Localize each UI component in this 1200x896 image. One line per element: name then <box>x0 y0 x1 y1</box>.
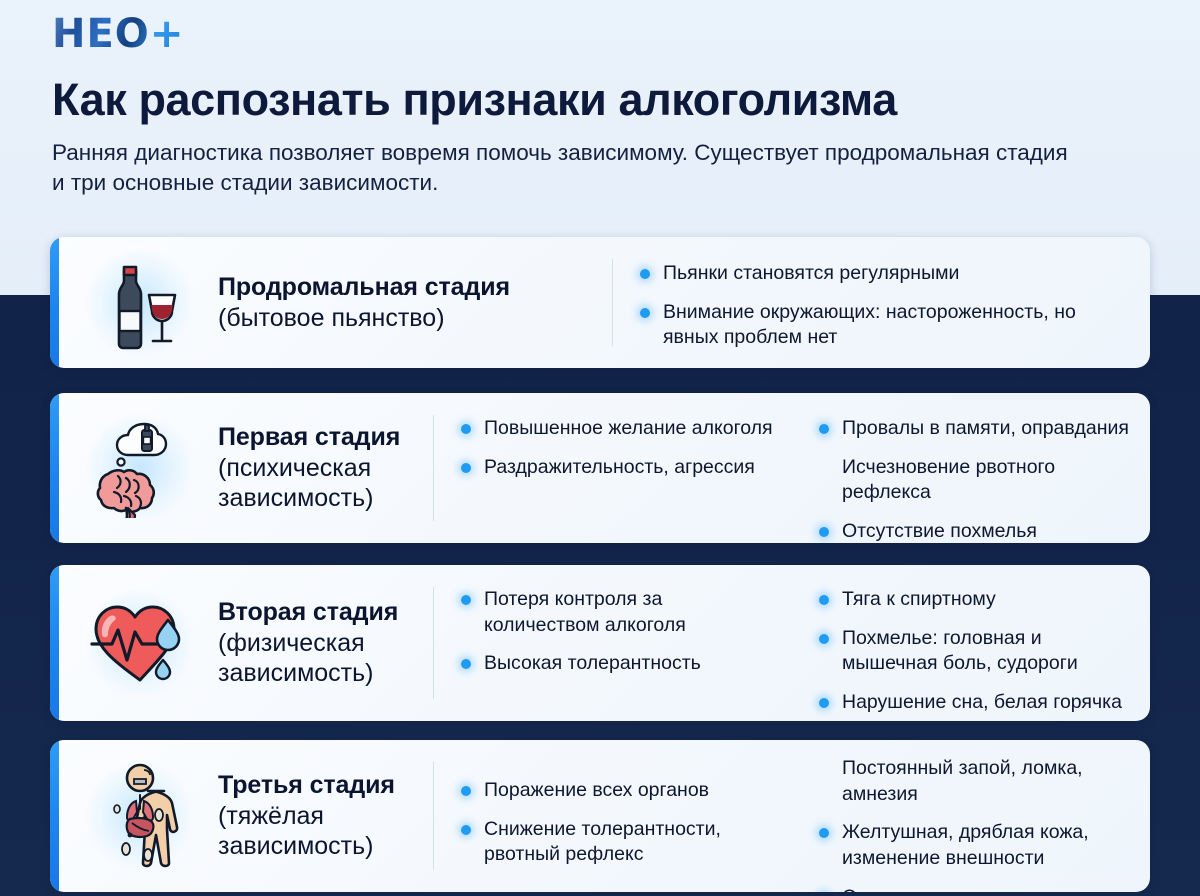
list-item: Раздражительность, агрессия <box>458 455 778 481</box>
brand-logo-name: HEO <box>52 11 150 57</box>
list-item: Повышенное желание алкоголя <box>458 416 778 442</box>
list-item: Снижение толерантности, рвотный рефлекс <box>458 817 778 868</box>
list-item: Отсутствие похмелья <box>816 519 1136 543</box>
stage-card-content: Пьянки становятся регулярными Внимание о… <box>613 237 1150 368</box>
brand-logo: HEO+ <box>52 14 184 54</box>
stage-card-second[interactable]: Вторая стадия (физическая зависимость) П… <box>50 565 1150 721</box>
stage-card-header: Продромальная стадия (бытовое пьянство) <box>50 237 612 368</box>
bullet-column: Поражение всех органов Снижение толерант… <box>434 756 792 868</box>
stage-card-header: Первая стадия (психическая зависимость) <box>50 393 433 543</box>
list-item: Желтушная, дряблая кожа, изменение внешн… <box>816 820 1136 871</box>
stage-title-main: Вторая стадия <box>218 597 433 628</box>
stage-card-content: Поражение всех органов Снижение толерант… <box>434 740 1150 892</box>
list-item: Социальная изоляция <box>816 885 1136 892</box>
list-item: Провалы в памяти, оправдания <box>816 416 1136 442</box>
bullet-column: Постоянный запой, ломка, амнезия Желтушн… <box>792 756 1150 892</box>
brain-with-thought-bubble-icon <box>84 412 196 524</box>
list-item: Пьянки становятся регулярными <box>637 261 1136 287</box>
stage-title-sub: (бытовое пьянство) <box>218 303 510 334</box>
infographic-page: HEO+ Как распознать признаки алкоголизма… <box>0 0 1200 896</box>
bullet-column: Повышенное желание алкоголя Раздражитель… <box>434 416 792 480</box>
stage-title: Третья стадия (тяжёлая зависимость) <box>218 770 433 862</box>
stage-card-third[interactable]: Третья стадия (тяжёлая зависимость) Пора… <box>50 740 1150 892</box>
heart-with-pulse-and-drops-icon <box>84 587 196 699</box>
stage-card-content: Потеря контроля за количеством алкоголя … <box>434 565 1150 721</box>
stage-card-content: Повышенное желание алкоголя Раздражитель… <box>434 393 1150 543</box>
stage-card-prodromal[interactable]: Продромальная стадия (бытовое пьянство) … <box>50 237 1150 368</box>
page-title: Как распознать признаки алкоголизма <box>52 76 1162 124</box>
bullet-list: Потеря контроля за количеством алкоголя … <box>458 587 778 677</box>
list-item: Внимание окружающих: настороженность, но… <box>637 300 1136 351</box>
human-body-organs-icon <box>84 760 196 872</box>
bullet-list: Постоянный запой, ломка, амнезия Желтушн… <box>816 756 1136 892</box>
stage-title-sub: (тяжёлая зависимость) <box>218 801 433 862</box>
brand-logo-plus-icon: + <box>150 11 185 57</box>
stage-title: Вторая стадия (физическая зависимость) <box>218 597 433 689</box>
list-item: Постоянный запой, ломка, амнезия <box>816 756 1136 807</box>
stage-title-main: Третья стадия <box>218 770 433 801</box>
bullet-column: Потеря контроля за количеством алкоголя … <box>434 587 792 677</box>
list-item: Похмелье: головная и мышечная боль, судо… <box>816 626 1136 677</box>
list-item: Поражение всех органов <box>458 778 778 804</box>
stage-title-sub: (психическая зависимость) <box>218 453 433 514</box>
stage-title-main: Первая стадия <box>218 422 433 453</box>
stage-card-header: Вторая стадия (физическая зависимость) <box>50 565 433 721</box>
bullet-list: Провалы в памяти, оправдания Исчезновени… <box>816 416 1136 543</box>
bullet-list: Пьянки становятся регулярными Внимание о… <box>637 261 1136 351</box>
bullet-column: Тяга к спиртному Похмелье: головная и мы… <box>792 587 1150 716</box>
bullet-list: Повышенное желание алкоголя Раздражитель… <box>458 416 778 480</box>
stage-card-first[interactable]: Первая стадия (психическая зависимость) … <box>50 393 1150 543</box>
wine-bottle-and-glass-icon <box>84 247 196 359</box>
list-item: Потеря контроля за количеством алкоголя <box>458 587 778 638</box>
page-subtitle: Ранняя диагностика позволяет вовремя пом… <box>52 138 1082 198</box>
list-item: Исчезновение рвотного рефлекса <box>816 455 1136 506</box>
stage-title-main: Продромальная стадия <box>218 272 510 303</box>
list-item: Высокая толерантность <box>458 651 778 677</box>
list-item: Нарушение сна, белая горячка <box>816 690 1136 716</box>
header: HEO+ Как распознать признаки алкоголизма… <box>52 14 1162 198</box>
list-item: Тяга к спиртному <box>816 587 1136 613</box>
bullet-column: Провалы в памяти, оправдания Исчезновени… <box>792 416 1150 543</box>
bullet-list: Поражение всех органов Снижение толерант… <box>458 778 778 868</box>
stage-card-header: Третья стадия (тяжёлая зависимость) <box>50 740 433 892</box>
bullet-column: Пьянки становятся регулярными Внимание о… <box>613 261 1150 351</box>
stage-title: Первая стадия (психическая зависимость) <box>218 422 433 514</box>
bullet-list: Тяга к спиртному Похмелье: головная и мы… <box>816 587 1136 716</box>
stage-title-sub: (физическая зависимость) <box>218 628 433 689</box>
stage-title: Продромальная стадия (бытовое пьянство) <box>218 272 510 333</box>
